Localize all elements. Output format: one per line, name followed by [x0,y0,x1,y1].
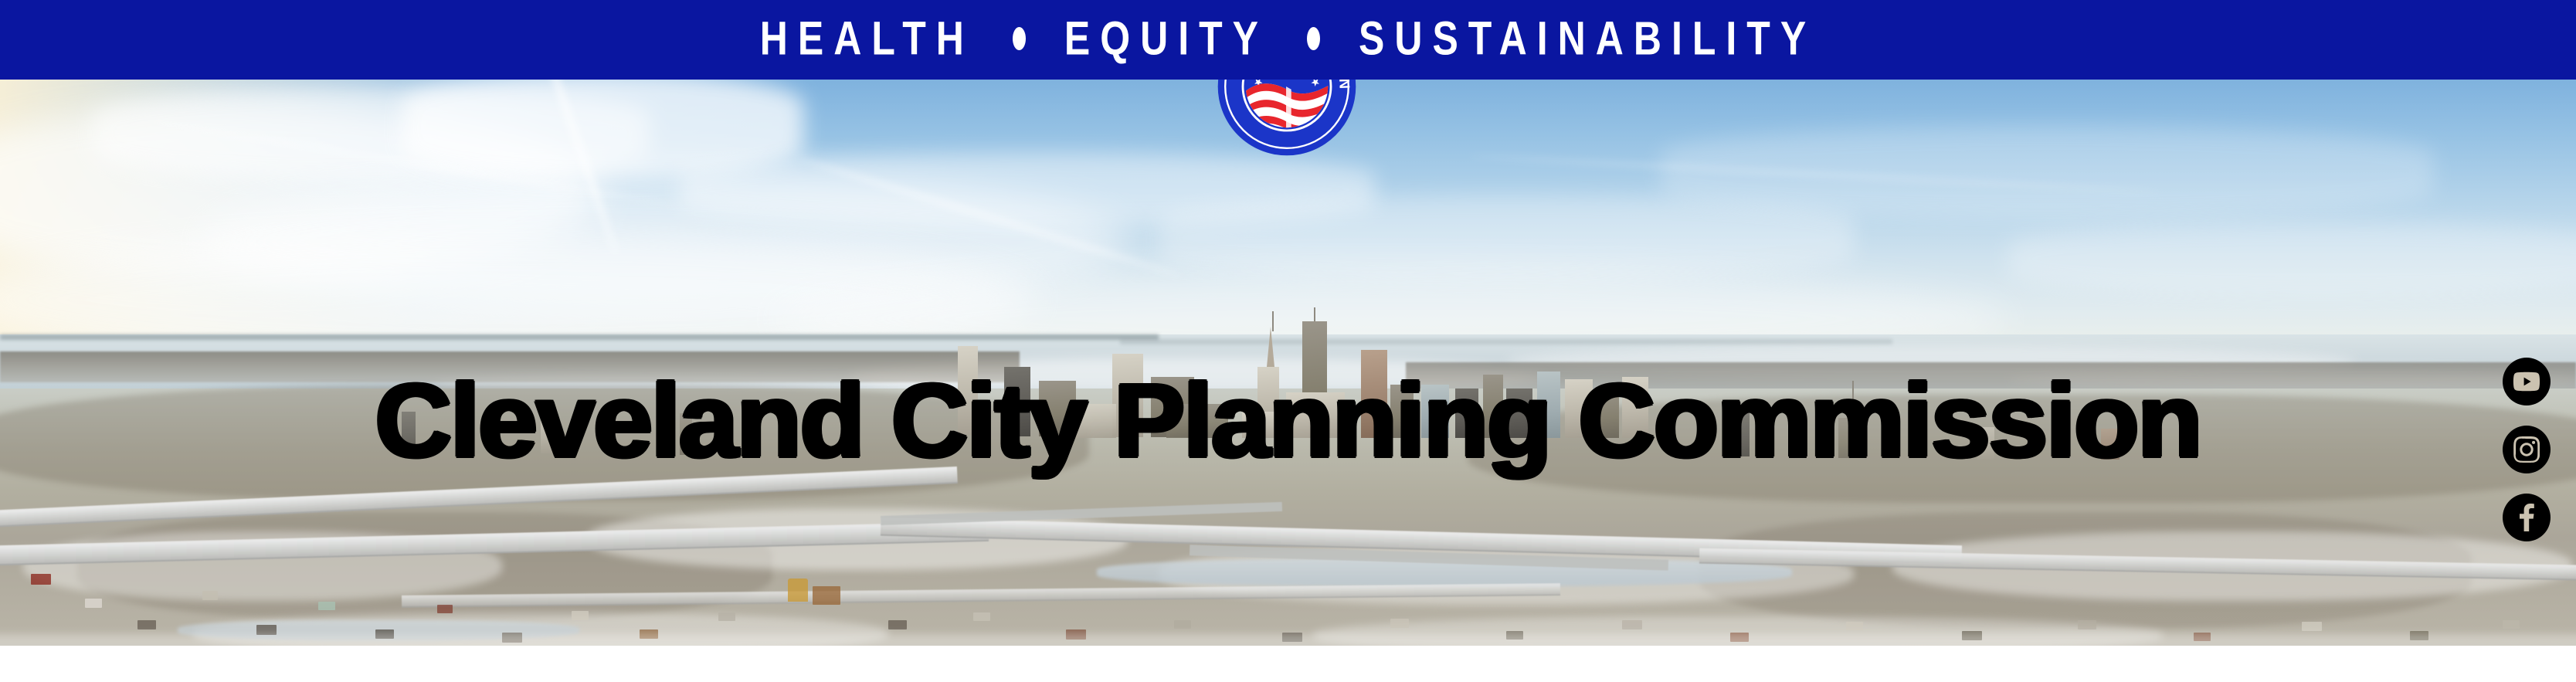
rooftop [137,620,156,629]
church-roof [788,579,808,602]
rooftop [2078,620,2096,629]
rooftop [572,611,589,620]
social-links [2503,358,2551,541]
tagline-separator-dot-2 [1307,27,1320,50]
rooftop [85,599,102,608]
rooftop [2503,620,2520,629]
church-roof [813,586,840,605]
rooftop [318,602,335,610]
rooftop [437,605,453,613]
social-link-facebook[interactable] [2503,494,2551,541]
rooftop [1846,622,1863,630]
rooftop [1390,619,1409,628]
facebook-icon [2519,504,2534,531]
social-link-youtube[interactable] [2503,358,2551,405]
tagline-separator-dot-1 [1013,27,1026,50]
rooftop [202,591,218,600]
rooftop [2302,622,2322,631]
snow-field [0,634,2576,646]
youtube-icon [2513,372,2540,392]
rooftop [1622,620,1642,629]
bottom-white-strip [0,646,2576,682]
tagline-word-health: HEALTH [760,15,974,62]
tagline-word-sustainability: SUSTAINABILITY [1359,15,1816,62]
rooftop [973,612,990,621]
tagline-inner: HEALTH EQUITY SUSTAINABILITY [760,19,1816,58]
rooftop [31,574,51,585]
antenna [1314,307,1315,321]
rooftop [888,620,907,629]
terminal-tower-spire [1267,327,1274,367]
rooftop [718,612,735,621]
tagline-word-equity: EQUITY [1064,15,1268,62]
rooftop [1174,620,1191,629]
banner-root: HEALTH EQUITY SUSTAINABILITY [0,0,2576,682]
instagram-icon [2513,436,2540,463]
page-title: Cleveland City Planning Commission [0,368,2576,473]
social-link-instagram[interactable] [2503,426,2551,473]
tagline-bar: HEALTH EQUITY SUSTAINABILITY [0,0,2576,80]
